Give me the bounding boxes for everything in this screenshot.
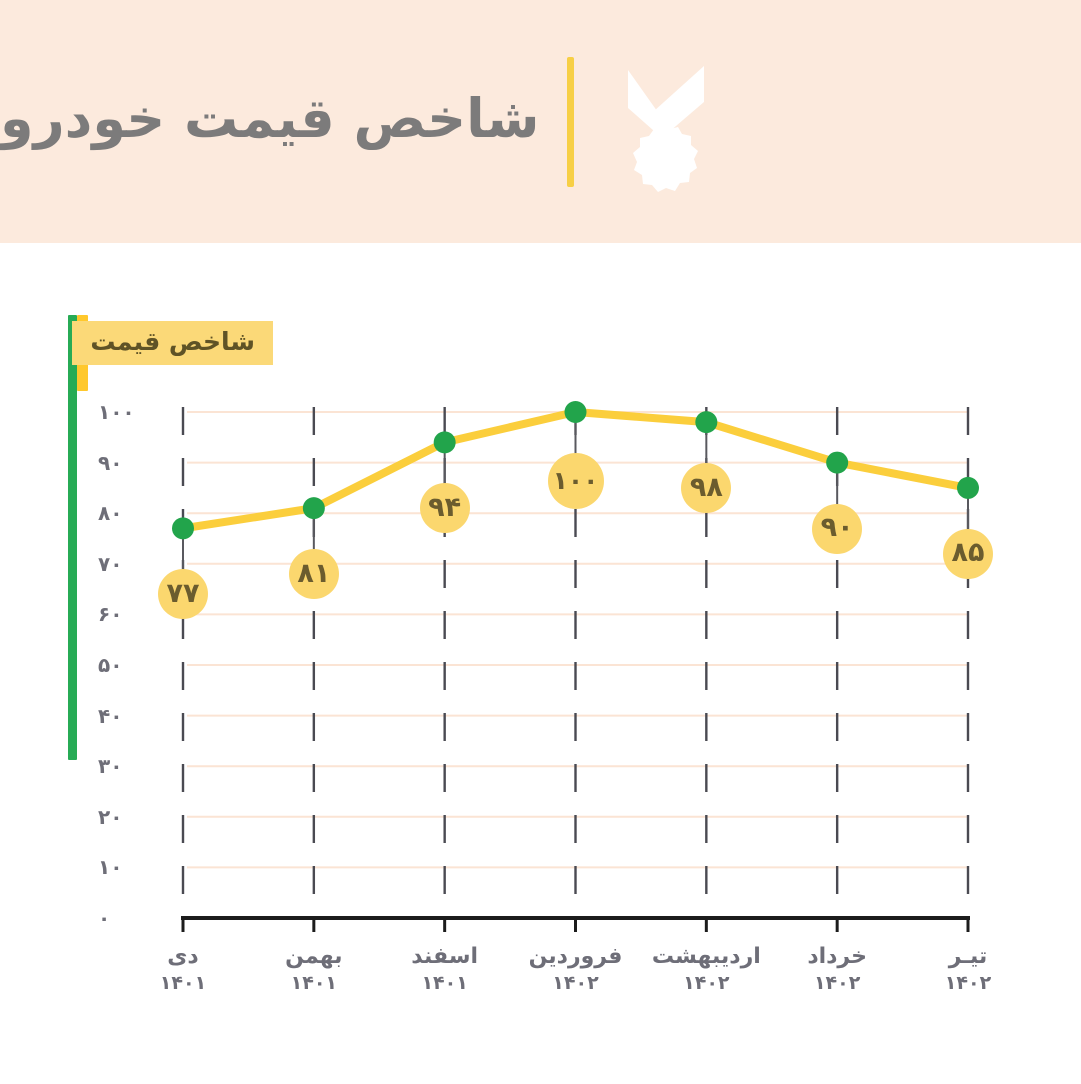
x-axis-year: ۱۴۰۲ (631, 971, 781, 996)
x-axis-year: ۱۴۰۱ (239, 971, 389, 996)
y-axis-tick-60: ۶۰ (98, 602, 158, 626)
data-bubble-5: ۹۰ (812, 504, 862, 554)
data-bubble-0: ۷۷ (158, 569, 208, 619)
x-axis-label-2: اسفند۱۴۰۱ (370, 943, 520, 995)
y-axis-tick-0: ۰ (98, 906, 158, 930)
page-title: شاخص قیمت خودرو (0, 85, 539, 159)
data-bubble-1: ۸۱ (289, 549, 339, 599)
x-axis-label-5: خرداد۱۴۰۲ (762, 943, 912, 995)
x-axis-month: تیـر (893, 943, 1043, 971)
chart-container: شاخص قیمت ۱۰۰۹۰۸۰۷۰۶۰۵۰۴۰۳۰۲۰۱۰۰ دی۱۴۰۱ب… (0, 243, 1081, 1084)
x-axis-year: ۱۴۰۱ (108, 971, 258, 996)
x-axis-month: دی (108, 943, 258, 971)
x-axis-year: ۱۴۰۱ (370, 971, 520, 996)
x-axis-label-4: اردیبهشت۱۴۰۲ (631, 943, 781, 995)
x-axis-year: ۱۴۰۲ (762, 971, 912, 996)
y-axis-tick-10: ۱۰ (98, 855, 158, 879)
x-axis-year: ۱۴۰۲ (893, 971, 1043, 996)
x-axis-label-1: بهمن۱۴۰۱ (239, 943, 389, 995)
y-axis-tick-100: ۱۰۰ (98, 400, 158, 424)
data-bubble-3: ۱۰۰ (548, 453, 604, 509)
x-axis-month: اسفند (370, 943, 520, 971)
x-axis-month: فروردین (501, 943, 651, 971)
x-axis-year: ۱۴۰۲ (501, 971, 651, 996)
data-bubble-4: ۹۸ (681, 463, 731, 513)
data-bubble-6: ۸۵ (943, 529, 993, 579)
x-axis-label-3: فروردین۱۴۰۲ (501, 943, 651, 995)
x-axis-month: خرداد (762, 943, 912, 971)
x-axis-label-0: دی۱۴۰۱ (108, 943, 258, 995)
x-axis-label-6: تیـر۱۴۰۲ (893, 943, 1043, 995)
header-brand: شاخص قیمت خودرو (0, 49, 722, 195)
x-axis-month: اردیبهشت (631, 943, 781, 971)
medal-icon (604, 52, 722, 192)
y-axis-tick-90: ۹۰ (98, 451, 158, 475)
page-header: شاخص قیمت خودرو (0, 0, 1081, 243)
y-axis-tick-20: ۲۰ (98, 805, 158, 829)
data-bubble-2: ۹۴ (420, 483, 470, 533)
header-divider (567, 57, 574, 187)
y-axis-tick-70: ۷۰ (98, 552, 158, 576)
y-axis-tick-30: ۳۰ (98, 754, 158, 778)
y-axis-tick-40: ۴۰ (98, 704, 158, 728)
y-axis-tick-50: ۵۰ (98, 653, 158, 677)
x-axis-month: بهمن (239, 943, 389, 971)
y-axis-tick-80: ۸۰ (98, 501, 158, 525)
